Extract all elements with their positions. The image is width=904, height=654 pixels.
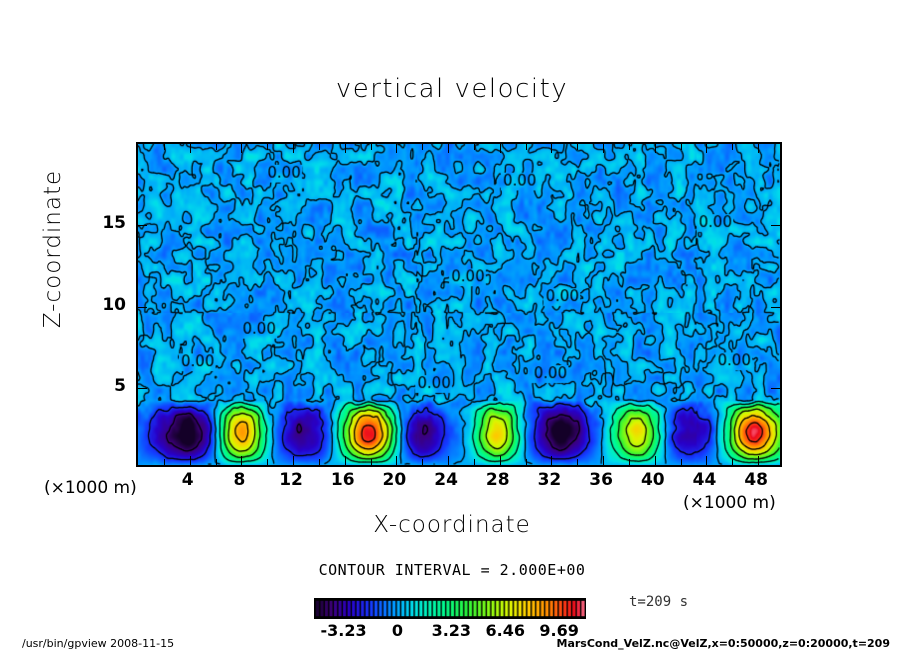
colorbar-tick-label: 6.46 — [485, 621, 524, 640]
y-axis-tick — [138, 307, 147, 308]
x-axis-tick — [603, 144, 604, 153]
x-axis-tick-label: 48 — [744, 470, 768, 490]
x-axis-tick-label: 24 — [434, 470, 458, 490]
x-axis-minor-tick — [629, 144, 630, 150]
y-axis-tick — [771, 307, 780, 308]
x-axis-minor-tick — [267, 144, 268, 150]
x-axis-tick-label: 8 — [233, 470, 245, 490]
x-axis-tick — [706, 456, 707, 465]
x-units-right: (×1000 m) — [683, 493, 776, 513]
x-axis-minor-tick — [577, 459, 578, 465]
x-axis-minor-tick — [681, 459, 682, 465]
x-axis-tick-label: 28 — [486, 470, 510, 490]
y-axis-tick — [771, 388, 780, 389]
x-axis-tick-label: 44 — [693, 470, 717, 490]
x-axis-minor-tick — [371, 144, 372, 150]
colorbar-tick-label: 0 — [392, 621, 403, 640]
x-axis-tick — [758, 456, 759, 465]
x-units-left: (×1000 m) — [44, 478, 137, 498]
x-axis-tick-label: 16 — [331, 470, 355, 490]
x-axis-minor-tick — [474, 144, 475, 150]
x-axis-tick — [603, 456, 604, 465]
x-axis-tick-label: 40 — [641, 470, 665, 490]
y-axis-tick — [138, 225, 147, 226]
x-axis-minor-tick — [681, 144, 682, 150]
x-axis-minor-tick — [319, 459, 320, 465]
x-axis-tick-label: 36 — [589, 470, 613, 490]
time-stamp: t=209 s — [629, 594, 688, 610]
x-axis-minor-tick — [216, 459, 217, 465]
footer-dataset: MarsCond_VelZ.nc@VelZ,x=0:50000,z=0:2000… — [557, 637, 891, 650]
x-axis-tick — [551, 456, 552, 465]
x-axis-minor-tick — [267, 459, 268, 465]
x-axis-minor-tick — [422, 459, 423, 465]
x-axis-tick — [448, 144, 449, 153]
x-axis-minor-tick — [422, 144, 423, 150]
x-axis-title: X-coordinate — [0, 512, 904, 538]
contour-field-canvas — [138, 144, 780, 465]
x-axis-tick — [655, 144, 656, 153]
page-title: vertical velocity — [0, 74, 904, 104]
colorbar-tick-label: -3.23 — [320, 621, 366, 640]
x-axis-minor-tick — [216, 144, 217, 150]
colorbar-gradient — [315, 599, 585, 618]
x-axis-minor-tick — [474, 459, 475, 465]
x-axis-tick — [241, 456, 242, 465]
x-axis-tick — [190, 456, 191, 465]
x-axis-tick — [500, 144, 501, 153]
x-axis-tick — [448, 456, 449, 465]
y-axis-tick-label: 10 — [92, 295, 126, 315]
x-axis-tick — [551, 144, 552, 153]
x-axis-minor-tick — [577, 144, 578, 150]
x-axis-tick-label: 32 — [538, 470, 562, 490]
contour-plot-panel — [136, 142, 782, 467]
x-axis-tick — [758, 144, 759, 153]
y-axis-tick — [771, 225, 780, 226]
x-axis-tick-label: 20 — [383, 470, 407, 490]
x-axis-tick-label: 4 — [182, 470, 194, 490]
y-axis-tick — [138, 388, 147, 389]
x-axis-tick — [396, 144, 397, 153]
x-axis-tick — [345, 456, 346, 465]
y-axis-tick-label: 5 — [92, 376, 126, 396]
x-axis-tick — [190, 144, 191, 153]
x-axis-minor-tick — [371, 459, 372, 465]
x-axis-minor-tick — [526, 144, 527, 150]
x-axis-minor-tick — [164, 144, 165, 150]
colorbar — [314, 598, 586, 619]
y-axis-title: Z-coordinate — [40, 144, 66, 354]
x-axis-tick — [345, 144, 346, 153]
footer-command: /usr/bin/gpview 2008-11-15 — [22, 637, 174, 650]
x-axis-minor-tick — [526, 459, 527, 465]
x-axis-tick — [655, 456, 656, 465]
x-axis-tick — [706, 144, 707, 153]
x-axis-tick — [293, 144, 294, 153]
colorbar-tick-label: 3.23 — [432, 621, 471, 640]
contour-interval-caption: CONTOUR INTERVAL = 2.000E+00 — [0, 561, 904, 579]
x-axis-tick — [241, 144, 242, 153]
x-axis-minor-tick — [629, 459, 630, 465]
x-axis-tick — [396, 456, 397, 465]
y-axis-tick-label: 15 — [92, 213, 126, 233]
x-axis-minor-tick — [319, 144, 320, 150]
x-axis-minor-tick — [164, 459, 165, 465]
x-axis-tick — [293, 456, 294, 465]
x-axis-minor-tick — [732, 144, 733, 150]
x-axis-minor-tick — [732, 459, 733, 465]
x-axis-tick-label: 12 — [279, 470, 303, 490]
x-axis-tick — [500, 456, 501, 465]
